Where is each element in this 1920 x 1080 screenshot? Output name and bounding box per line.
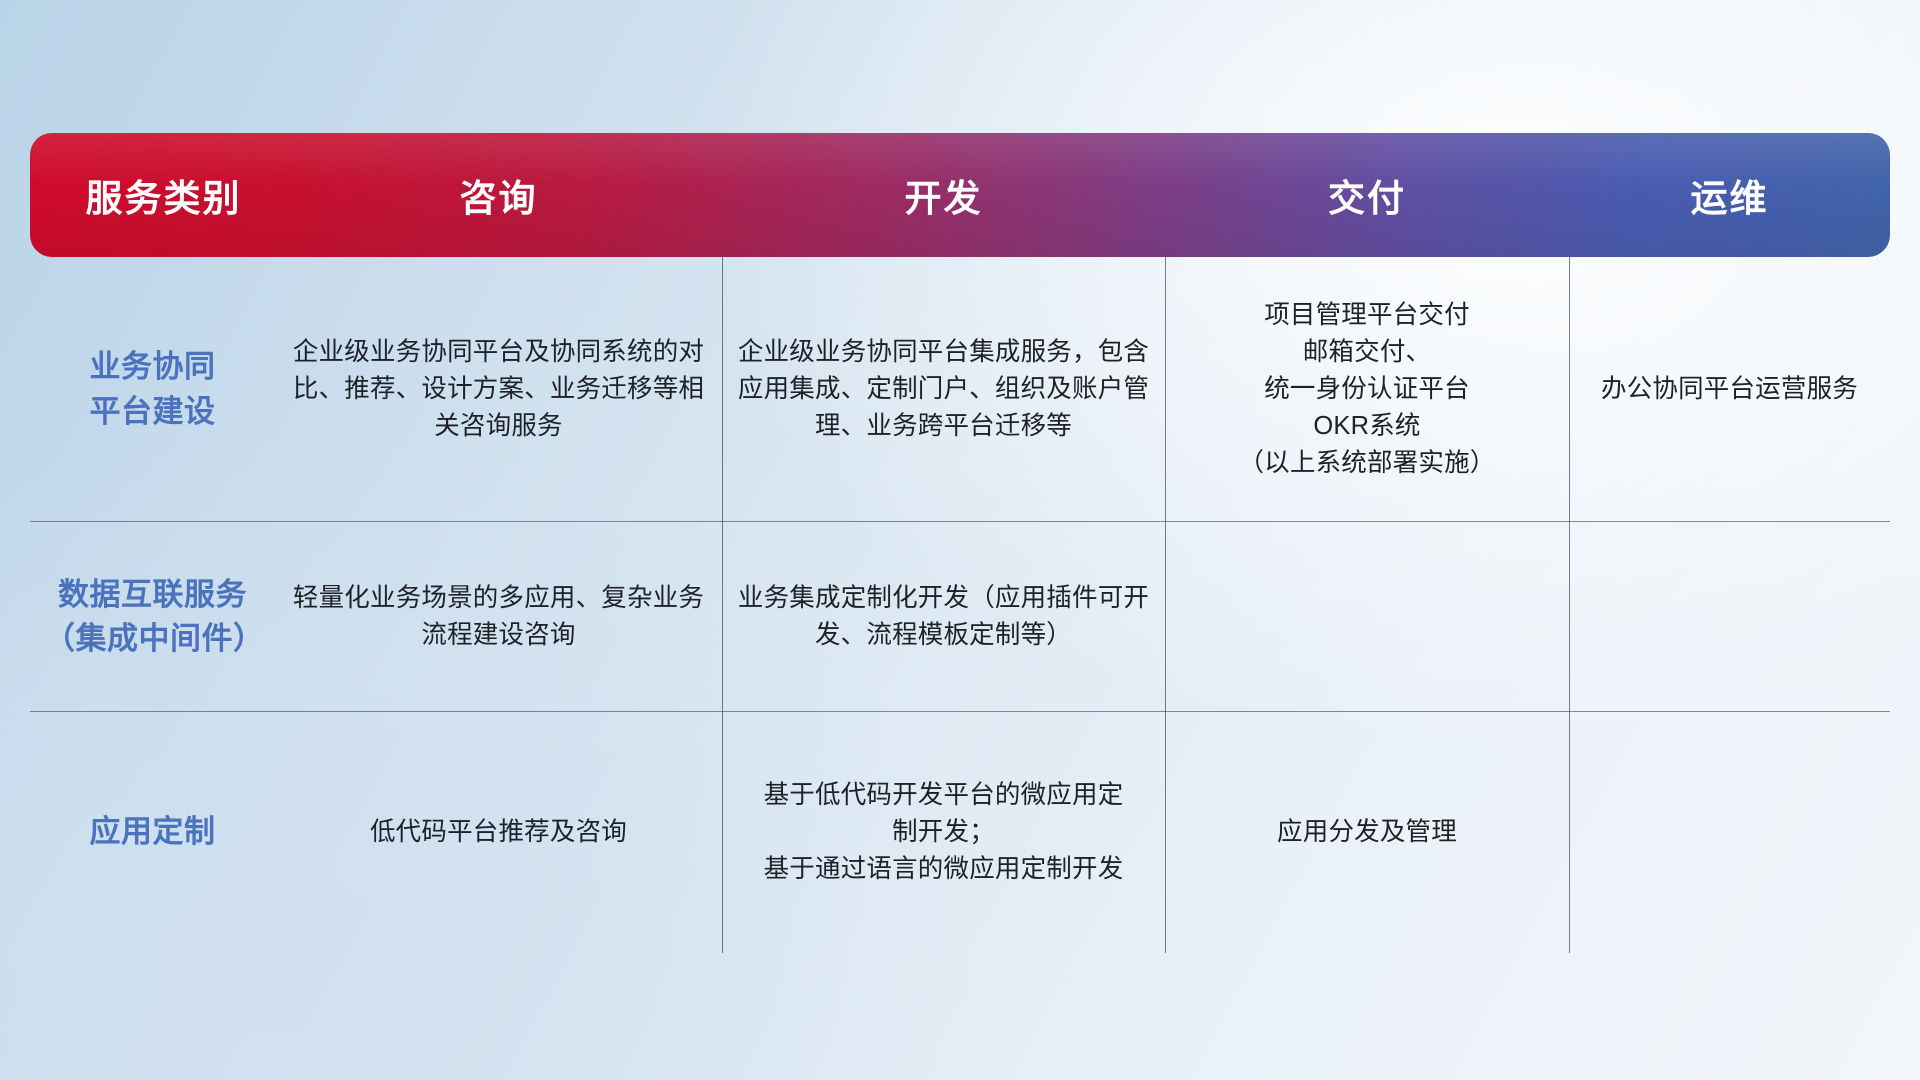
cell-text: 业务集成定制化开发（应用插件可开发、流程模板定制等）	[736, 580, 1151, 654]
cell-operations	[1569, 522, 1890, 712]
cell-consulting: 轻量化业务场景的多应用、复杂业务流程建设咨询	[275, 522, 722, 712]
cell-development: 企业级业务协同平台集成服务，包含应用集成、定制门户、组织及账户管理、业务跨平台迁…	[722, 257, 1165, 522]
cell-text-line-2: 制开发；	[764, 814, 1124, 851]
row-category-cell: 数据互联服务 （集成中间件）	[30, 522, 275, 712]
table-row: 应用定制 低代码平台推荐及咨询 基于低代码开发平台的微应用定 制开发； 基于通过…	[30, 712, 1890, 953]
cell-text: 企业级业务协同平台集成服务，包含应用集成、定制门户、组织及账户管理、业务跨平台迁…	[736, 334, 1151, 445]
row-category-cell: 业务协同 平台建设	[30, 257, 275, 522]
category-label-line-1: 业务协同	[90, 345, 216, 389]
cell-text: 项目管理平台交付 邮箱交付、 统一身份认证平台 OKR系统 （以上系统部署实施）	[1238, 297, 1495, 482]
category-label: 应用定制	[90, 810, 216, 854]
cell-delivery: 项目管理平台交付 邮箱交付、 统一身份认证平台 OKR系统 （以上系统部署实施）	[1165, 257, 1569, 522]
category-label-line-1: 数据互联服务	[44, 573, 261, 617]
cell-text-line-1: 项目管理平台交付	[1238, 297, 1495, 334]
column-header-delivery: 交付	[1165, 168, 1569, 222]
table-header-row: 服务类别 咨询 开发 交付 运维	[30, 133, 1890, 257]
cell-text: 轻量化业务场景的多应用、复杂业务流程建设咨询	[289, 580, 708, 654]
category-label: 业务协同 平台建设	[90, 345, 216, 433]
cell-consulting: 企业级业务协同平台及协同系统的对比、推荐、设计方案、业务迁移等相关咨询服务	[275, 257, 722, 522]
cell-operations: 办公协同平台运营服务	[1569, 257, 1890, 522]
column-header-operations: 运维	[1569, 168, 1890, 222]
table-row: 业务协同 平台建设 企业级业务协同平台及协同系统的对比、推荐、设计方案、业务迁移…	[30, 257, 1890, 522]
cell-text: 办公协同平台运营服务	[1601, 371, 1858, 408]
cell-text-line-2: 邮箱交付、	[1238, 334, 1495, 371]
table-row: 数据互联服务 （集成中间件） 轻量化业务场景的多应用、复杂业务流程建设咨询 业务…	[30, 522, 1890, 712]
category-label-line-2: 平台建设	[90, 390, 216, 434]
cell-text-line-3: 基于通过语言的微应用定制开发	[764, 851, 1124, 888]
cell-development: 基于低代码开发平台的微应用定 制开发； 基于通过语言的微应用定制开发	[722, 712, 1165, 953]
cell-delivery: 应用分发及管理	[1165, 712, 1569, 953]
row-category-cell: 应用定制	[30, 712, 275, 953]
cell-text: 应用分发及管理	[1277, 814, 1457, 851]
cell-text: 基于低代码开发平台的微应用定 制开发； 基于通过语言的微应用定制开发	[764, 777, 1124, 888]
table-body: 业务协同 平台建设 企业级业务协同平台及协同系统的对比、推荐、设计方案、业务迁移…	[30, 257, 1890, 953]
cell-text-line-3: 统一身份认证平台	[1238, 371, 1495, 408]
cell-text-line-5: （以上系统部署实施）	[1238, 445, 1495, 482]
cell-development: 业务集成定制化开发（应用插件可开发、流程模板定制等）	[722, 522, 1165, 712]
cell-consulting: 低代码平台推荐及咨询	[275, 712, 722, 953]
cell-text-line-1: 基于低代码开发平台的微应用定	[764, 777, 1124, 814]
cell-delivery	[1165, 522, 1569, 712]
cell-operations	[1569, 712, 1890, 953]
service-category-table: 服务类别 咨询 开发 交付 运维 业务协同 平台建设 企业级业务协同平台及协同系…	[30, 133, 1890, 953]
column-header-development: 开发	[722, 168, 1165, 222]
cell-text: 低代码平台推荐及咨询	[370, 814, 627, 851]
column-header-service-category: 服务类别	[30, 168, 275, 222]
category-label-line-2: （集成中间件）	[44, 617, 261, 661]
category-label: 数据互联服务 （集成中间件）	[44, 573, 261, 661]
category-label-line-1: 应用定制	[90, 810, 216, 854]
cell-text: 企业级业务协同平台及协同系统的对比、推荐、设计方案、业务迁移等相关咨询服务	[289, 334, 708, 445]
column-header-consulting: 咨询	[275, 168, 722, 222]
cell-text-line-4: OKR系统	[1238, 408, 1495, 445]
